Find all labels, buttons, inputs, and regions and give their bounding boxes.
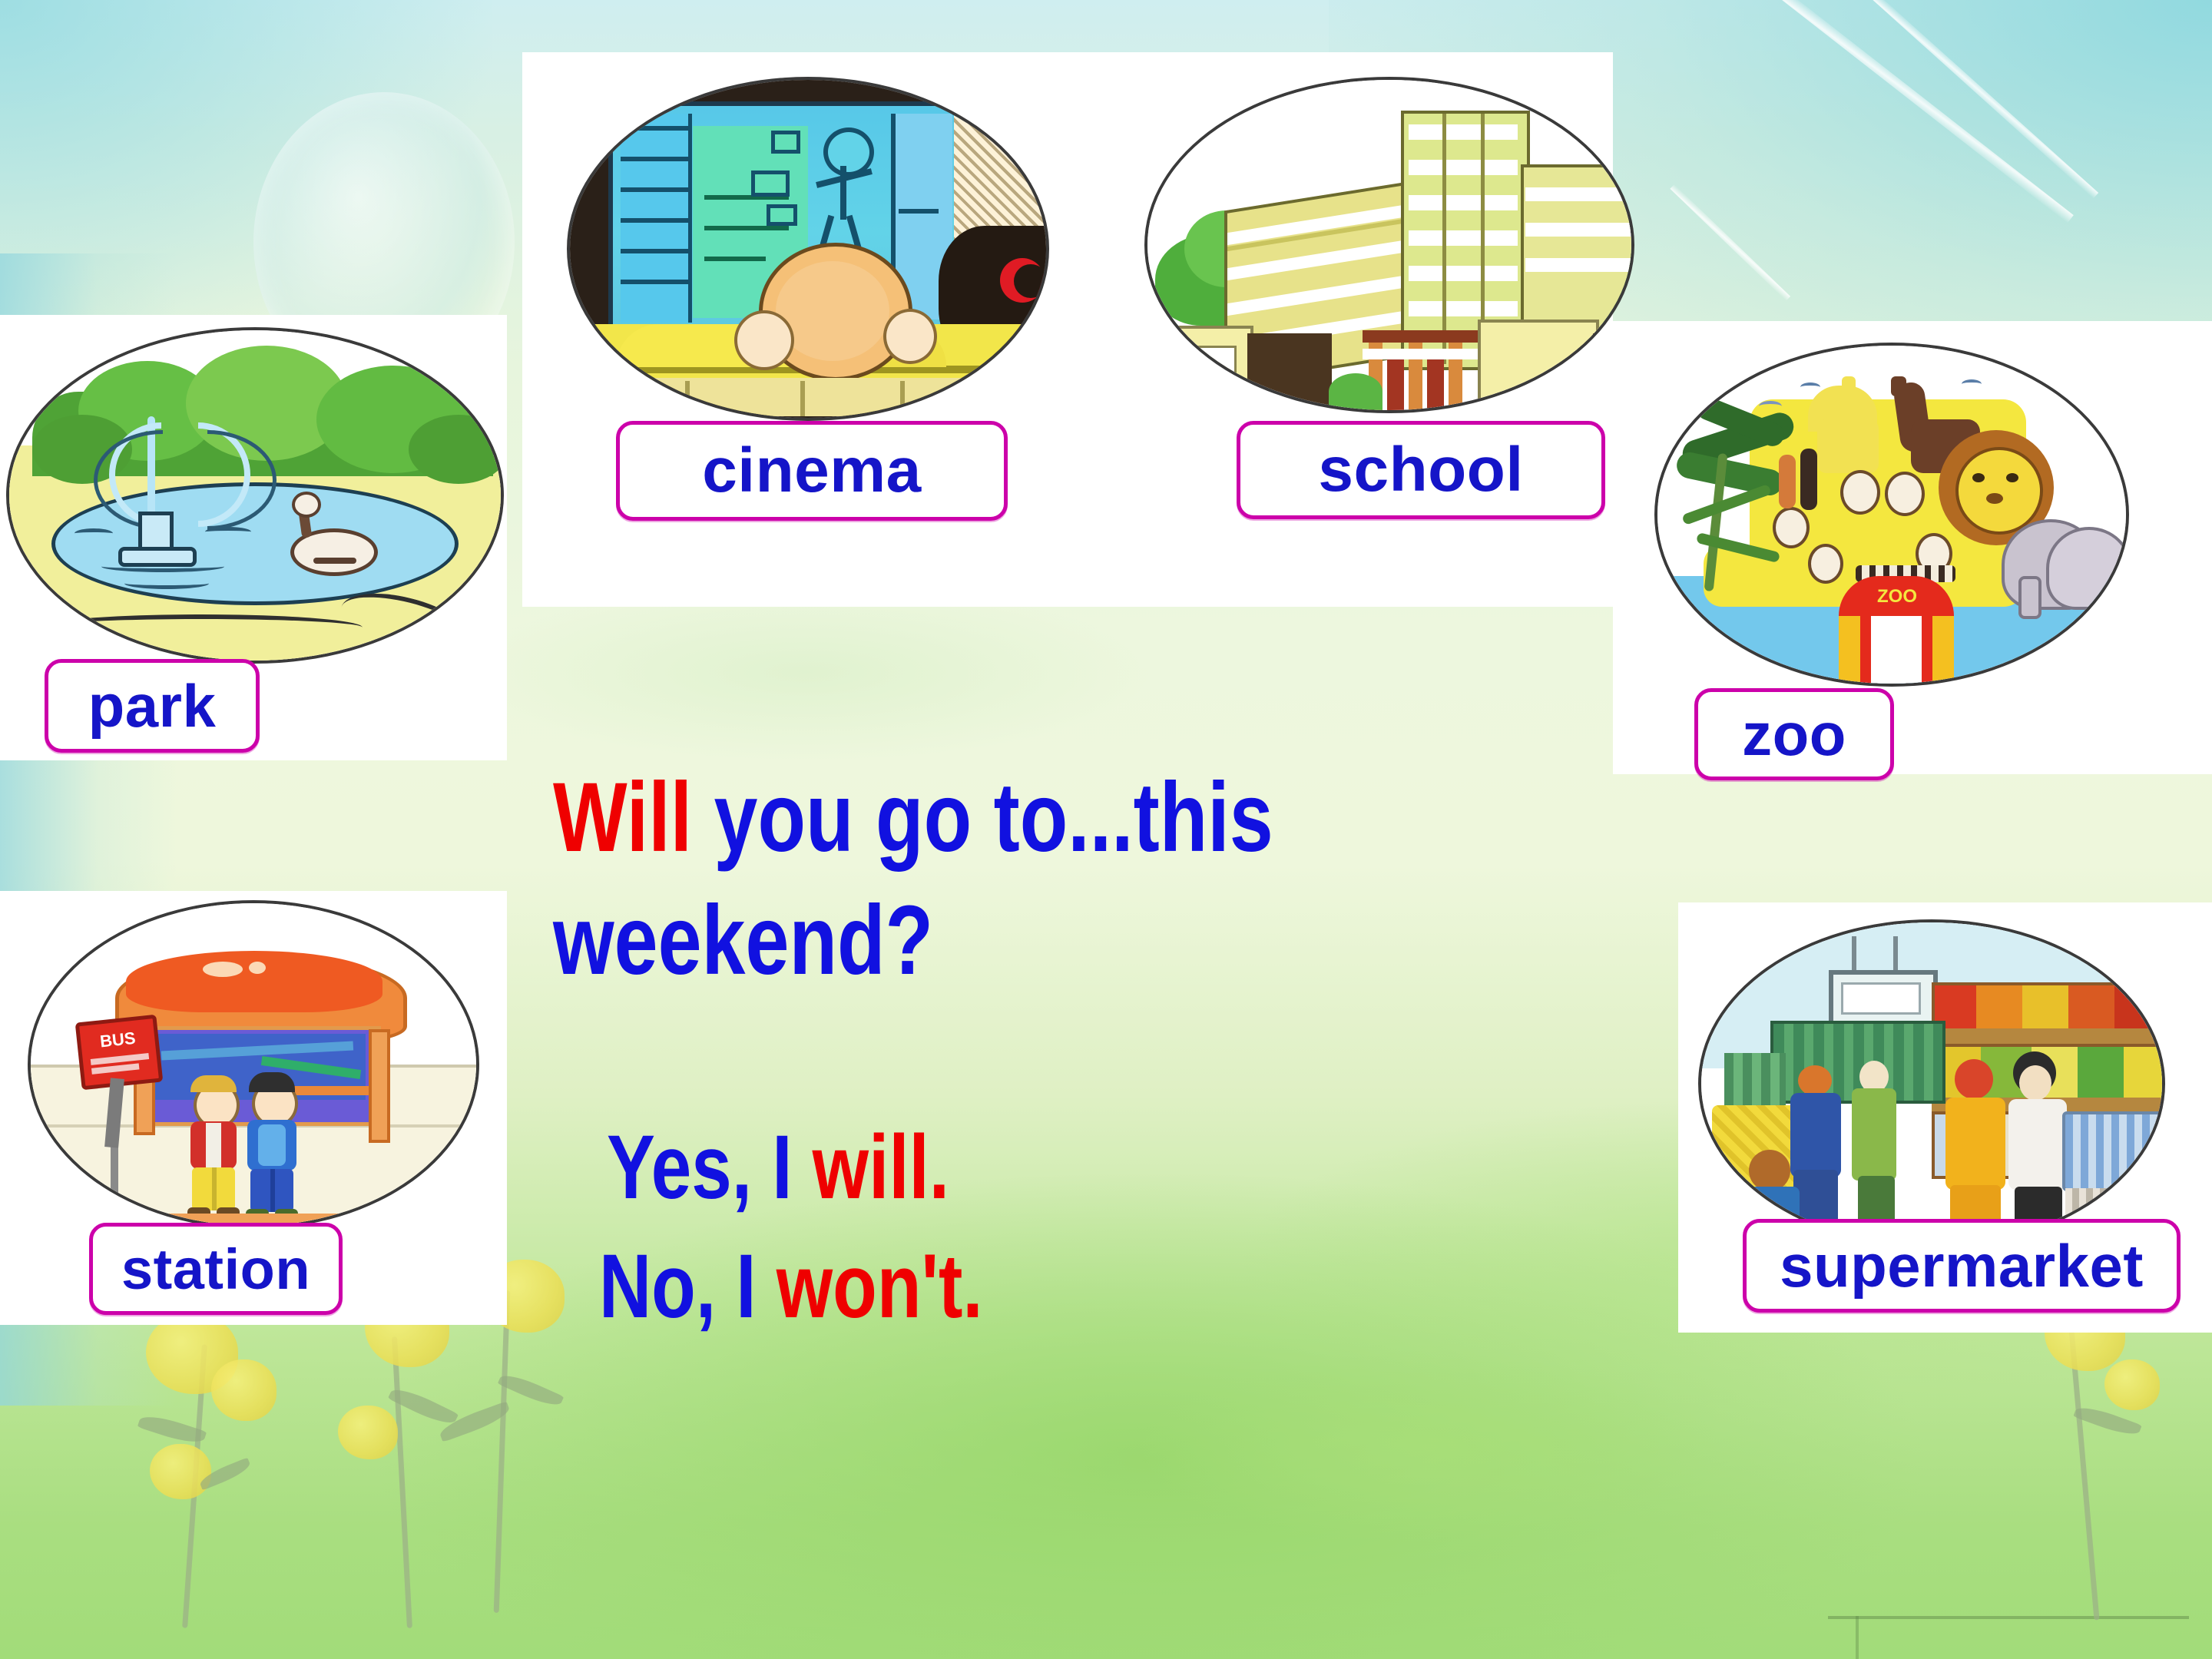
card-supermarket: supermarket [1678,902,2212,1333]
bus-sign-text: BUS [88,1027,147,1053]
school-building-icon [1144,77,1634,413]
card-label-station[interactable]: station [89,1223,343,1315]
background-green-blob [461,584,1152,760]
supermarket-aisle-icon [1698,919,2165,1248]
zoo-animals-icon: ZOO [1654,343,2129,687]
answer-yes-blue: Yes, I [607,1117,813,1218]
answer-no-red: won't. [777,1236,983,1337]
card-label-supermarket[interactable]: supermarket [1743,1219,2181,1313]
card-label-text: zoo [1742,700,1846,770]
card-label-cinema[interactable]: cinema [616,421,1008,521]
question-line-1: Will you go to...this [553,768,1273,869]
card-label-text: station [121,1237,310,1302]
answer-no-blue: No, I [599,1236,777,1337]
card-label-text: park [88,671,217,741]
background-green-blob [1137,1352,1720,1544]
answer-line-yes: Yes, I will. [607,1121,949,1214]
card-label-school[interactable]: school [1237,421,1605,519]
bus-station-icon: BUS [28,900,479,1229]
slide-canvas: cinema [0,0,2212,1659]
card-zoo: ZOO zoo [1613,321,2212,774]
card-label-park[interactable]: park [45,659,260,753]
park-fountain-icon [6,327,504,664]
card-label-text: school [1318,434,1523,506]
answer-line-no: No, I won't. [599,1240,983,1333]
answer-yes-red: will. [813,1117,949,1218]
question-rest-line1: you go to...this [692,763,1273,873]
card-park: park [0,315,507,760]
card-school: school [1137,52,1613,607]
cinema-screen-icon [567,77,1049,421]
question-line-2: weekend? [553,891,933,992]
card-label-zoo[interactable]: zoo [1694,688,1894,780]
decorative-flower [1997,1298,2212,1628]
question-word-will: Will [553,763,692,873]
card-label-text: supermarket [1780,1231,2144,1301]
card-label-text: cinema [702,435,922,507]
background-hairline [1856,1616,1859,1659]
zoo-gate-label: ZOO [1862,587,1932,607]
card-station: BUS station [0,891,507,1325]
